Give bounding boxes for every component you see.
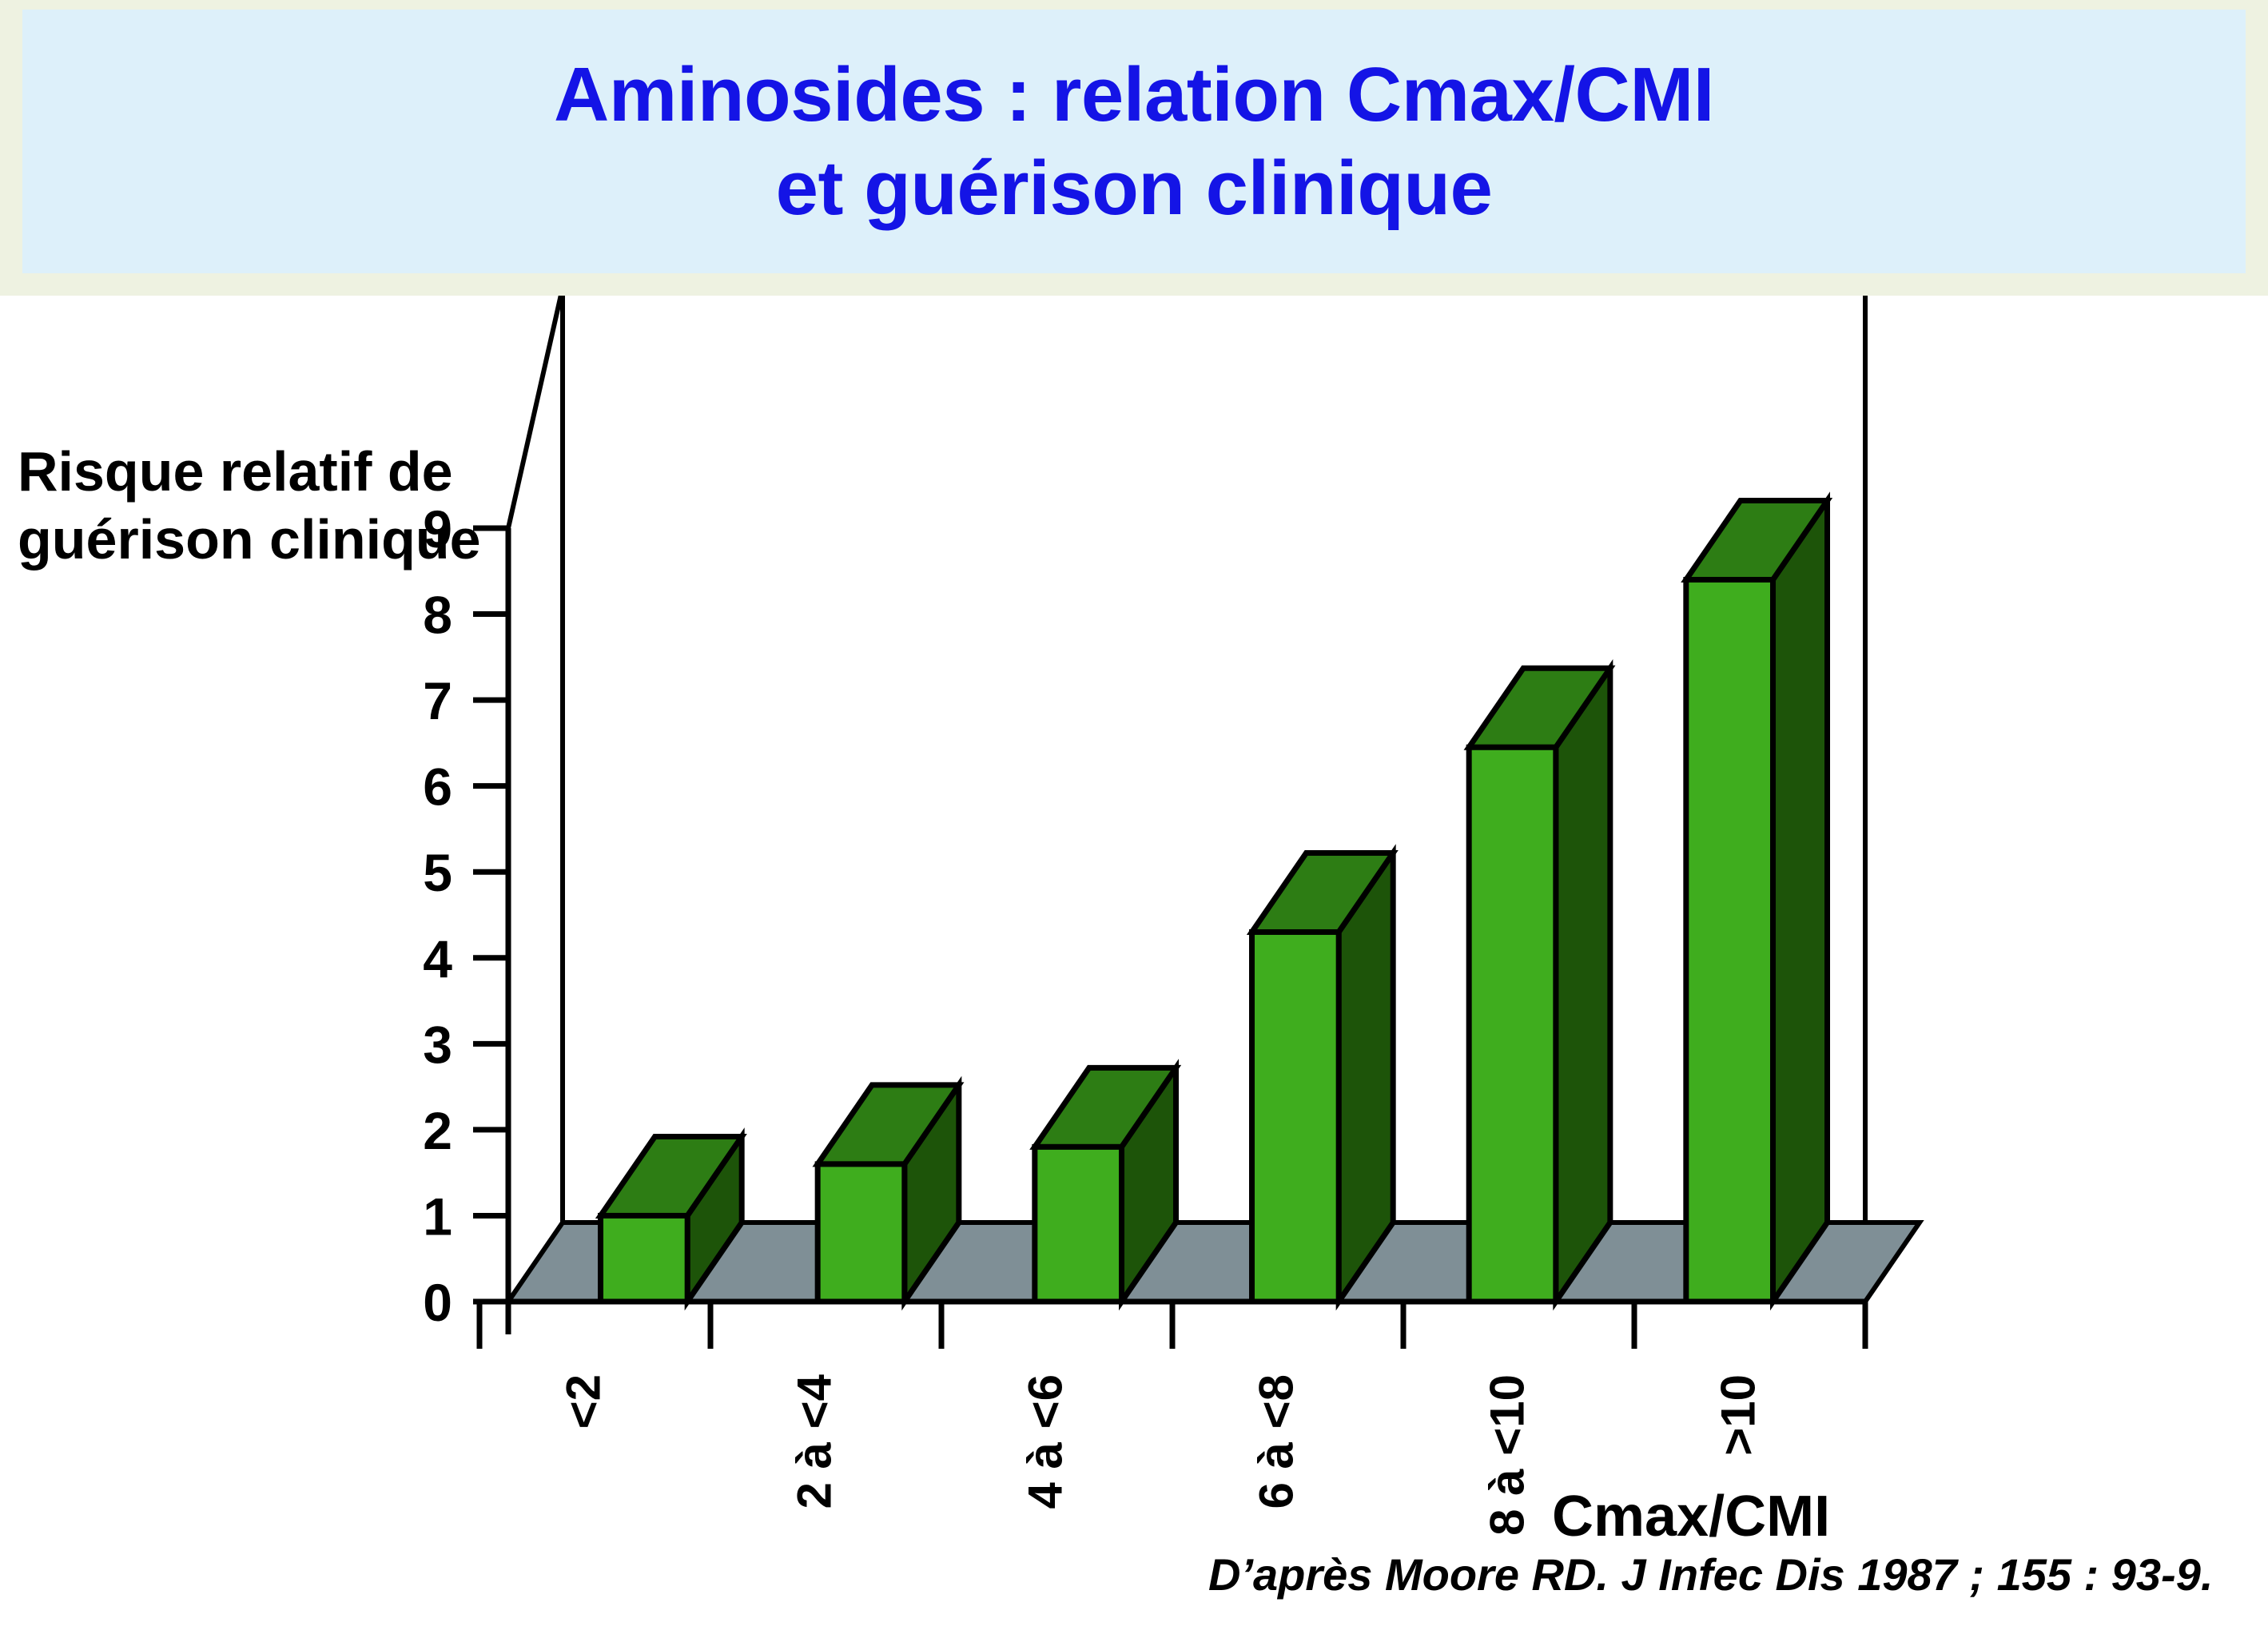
x-tick-label: >10 xyxy=(1711,1374,1765,1456)
x-tick-label: 4 à <6 xyxy=(1018,1374,1072,1509)
bar-chart-plot: 0123456789 <22 à <44 à <66 à <88 à <10>1… xyxy=(0,296,2268,1638)
y-axis: 0123456789 xyxy=(423,499,508,1334)
y-tick-label: 2 xyxy=(423,1101,452,1160)
bar-6 xyxy=(1686,501,1828,1302)
slide-title-banner: Aminosides : relation Cmax/CMI et guéris… xyxy=(22,10,2246,273)
y-tick-label: 0 xyxy=(423,1273,452,1332)
x-tick-label: 8 à <10 xyxy=(1480,1374,1534,1536)
y-tick-label: 1 xyxy=(423,1187,452,1246)
title-frame: Aminosides : relation Cmax/CMI et guéris… xyxy=(0,0,2268,296)
slide-title-line-1: Aminosides : relation Cmax/CMI xyxy=(554,48,1714,141)
y-tick-label: 5 xyxy=(423,843,452,902)
y-tick-label: 4 xyxy=(423,929,452,988)
x-tick-label: 6 à <8 xyxy=(1249,1374,1303,1509)
x-tick-label: <2 xyxy=(556,1374,610,1429)
y-tick-label: 6 xyxy=(423,757,452,817)
bar-4 xyxy=(1252,853,1394,1302)
bar-5 xyxy=(1469,668,1610,1302)
chart-container: Risque relatif de guérison clinique 0123… xyxy=(0,296,2268,1638)
x-axis-title: Cmax/CMI xyxy=(1552,1484,1830,1549)
x-axis xyxy=(479,1302,1865,1349)
y-tick-label: 9 xyxy=(423,499,452,559)
y-tick-label: 7 xyxy=(423,671,452,730)
x-tick-label: 2 à <4 xyxy=(787,1374,841,1509)
y-tick-label: 3 xyxy=(423,1015,452,1074)
slide-title-line-2: et guérison clinique xyxy=(776,141,1493,235)
y-tick-label: 8 xyxy=(423,586,452,645)
source-citation: D’après Moore RD. J Infec Dis 1987 ; 155… xyxy=(1208,1549,2213,1600)
